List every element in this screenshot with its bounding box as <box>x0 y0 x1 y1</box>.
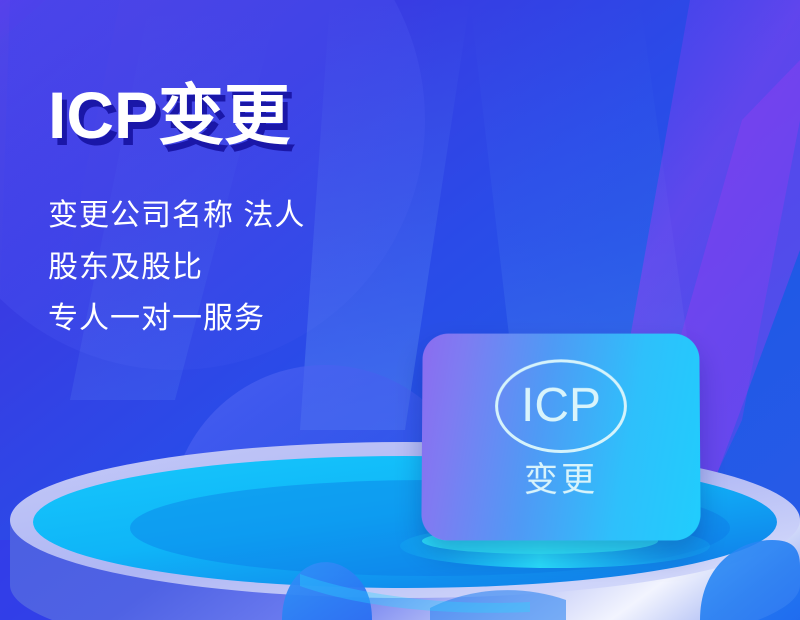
icp-badge-label: ICP <box>521 382 601 430</box>
subtitle-line: 专人一对一服务 <box>48 293 305 345</box>
icp-card-caption: 变更 <box>524 463 598 497</box>
icp-change-banner: ICP 变更 ICP变更 变更公司名称 法人 股东及股比 专人一对一服务 <box>0 0 800 620</box>
icp-badge: ICP <box>495 359 627 453</box>
subtitle-list: 变更公司名称 法人 股东及股比 专人一对一服务 <box>48 190 305 345</box>
subtitle-line: 股东及股比 <box>48 242 305 294</box>
subtitle-line: 变更公司名称 法人 <box>48 190 305 242</box>
icp-card-content: ICP 变更 <box>421 334 700 541</box>
page-title: ICP变更 <box>48 82 305 148</box>
icp-card: ICP 变更 <box>421 334 700 541</box>
headline-block: ICP变更 变更公司名称 法人 股东及股比 专人一对一服务 <box>48 82 305 345</box>
